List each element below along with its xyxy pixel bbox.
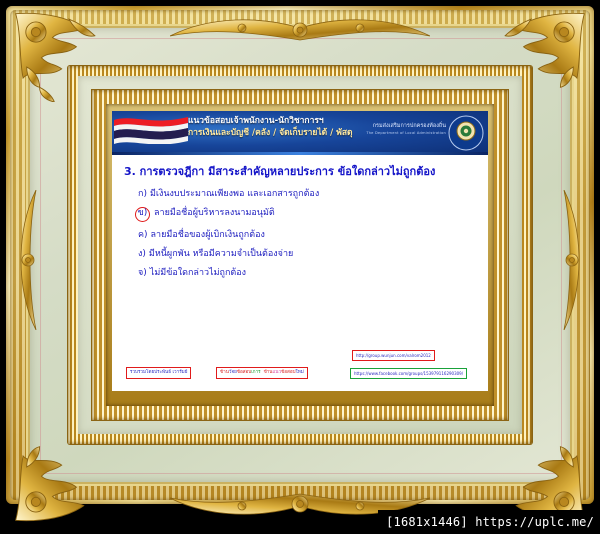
- watermark-source: https://uplc.me/: [475, 515, 594, 529]
- choice-label: มีเงินงบประมาณเพียงพอ และเอกสารถูกต้อง: [150, 189, 319, 199]
- choice-key: ง): [138, 248, 146, 260]
- slide-footer: รวบรวมโดยประพันธ์ เวารัมย์ ข้านวัจยข้อสอ…: [112, 337, 488, 391]
- screenshot-root: แนวข้อสอบเจ้าพนักงาน-นักวิชาการฯ การเงิน…: [0, 0, 600, 534]
- links-seg-4: เการ: [251, 370, 260, 375]
- choice-key-circled: ข): [135, 207, 150, 222]
- links-seg-3: ข้อสอบ: [237, 370, 251, 375]
- choice-item[interactable]: ก)มีเงินงบประมาณเพียงพอ และเอกสารถูกต้อง: [138, 188, 478, 200]
- slide-content: แนวข้อสอบเจ้าพนักงาน-นักวิชาการฯ การเงิน…: [112, 111, 488, 391]
- choice-label: ลายมือชื่อของผู้เบิกเงินถูกต้อง: [151, 230, 265, 240]
- links-box[interactable]: ข้านวัจยข้อสอบเการ ข้านแนวข้อสอบใหม่: [216, 367, 308, 379]
- links-seg-1: ข้าน: [220, 370, 229, 375]
- banner-department-th: กรมส่งเสริมการปกครองท้องถิ่น: [373, 123, 446, 129]
- banner-department: กรมส่งเสริมการปกครองท้องถิ่น The Departm…: [326, 123, 446, 136]
- dla-emblem-icon: [448, 115, 484, 151]
- facebook-url-box[interactable]: https://www.facebook.com/groups/15397911…: [350, 368, 467, 379]
- choice-label: มีหนี้ผูกพัน หรือมีความจำเป็นต้องจ่าย: [149, 249, 293, 259]
- choice-item[interactable]: ง)มีหนี้ผูกพัน หรือมีความจำเป็นต้องจ่าย: [138, 248, 478, 260]
- thai-flag-icon: [114, 114, 188, 144]
- links-seg-8: ใหม่: [296, 370, 304, 375]
- links-seg-2: วัจย: [229, 370, 237, 375]
- banner-department-en: The Department of Local Administration: [326, 131, 446, 136]
- links-seg-6: แนว: [272, 370, 281, 375]
- choice-key: จ): [138, 267, 147, 279]
- choice-key: ก): [138, 188, 147, 200]
- choices-list: ก)มีเงินงบประมาณเพียงพอ และเอกสารถูกต้อง…: [124, 188, 478, 280]
- credit-box: รวบรวมโดยประพันธ์ เวารัมย์: [126, 367, 191, 379]
- choice-item[interactable]: จ)ไม่มีข้อใดกล่าวไม่ถูกต้อง: [138, 267, 478, 279]
- choice-key: ค): [138, 229, 148, 241]
- question-block: 3. การตรวจฎีกา มีสาระสำคัญหลายประการ ข้อ…: [112, 155, 488, 280]
- choice-label: ลายมือชื่อผู้บริหารลงนามอนุมัติ: [154, 208, 275, 218]
- links-seg-7: ข้อสอบ: [281, 370, 295, 375]
- watermark-dimensions: [1681x1446]: [386, 515, 468, 529]
- choice-item-marked[interactable]: ข)ลายมือชื่อผู้บริหารลงนามอนุมัติ: [138, 207, 478, 222]
- banner-title-line1: แนวข้อสอบเจ้าพนักงาน-นักวิชาการฯ: [188, 116, 324, 126]
- slide-banner-header: แนวข้อสอบเจ้าพนักงาน-นักวิชาการฯ การเงิน…: [112, 111, 488, 155]
- watermark-bar: [1681x1446] https://uplc.me/: [378, 510, 600, 534]
- choice-item[interactable]: ค)ลายมือชื่อของผู้เบิกเงินถูกต้อง: [138, 229, 478, 241]
- group-url-box[interactable]: http://group.wunjun.com/valrom2012: [352, 350, 435, 361]
- choice-label: ไม่มีข้อใดกล่าวไม่ถูกต้อง: [150, 268, 246, 278]
- question-text: 3. การตรวจฎีกา มีสาระสำคัญหลายประการ ข้อ…: [124, 164, 478, 180]
